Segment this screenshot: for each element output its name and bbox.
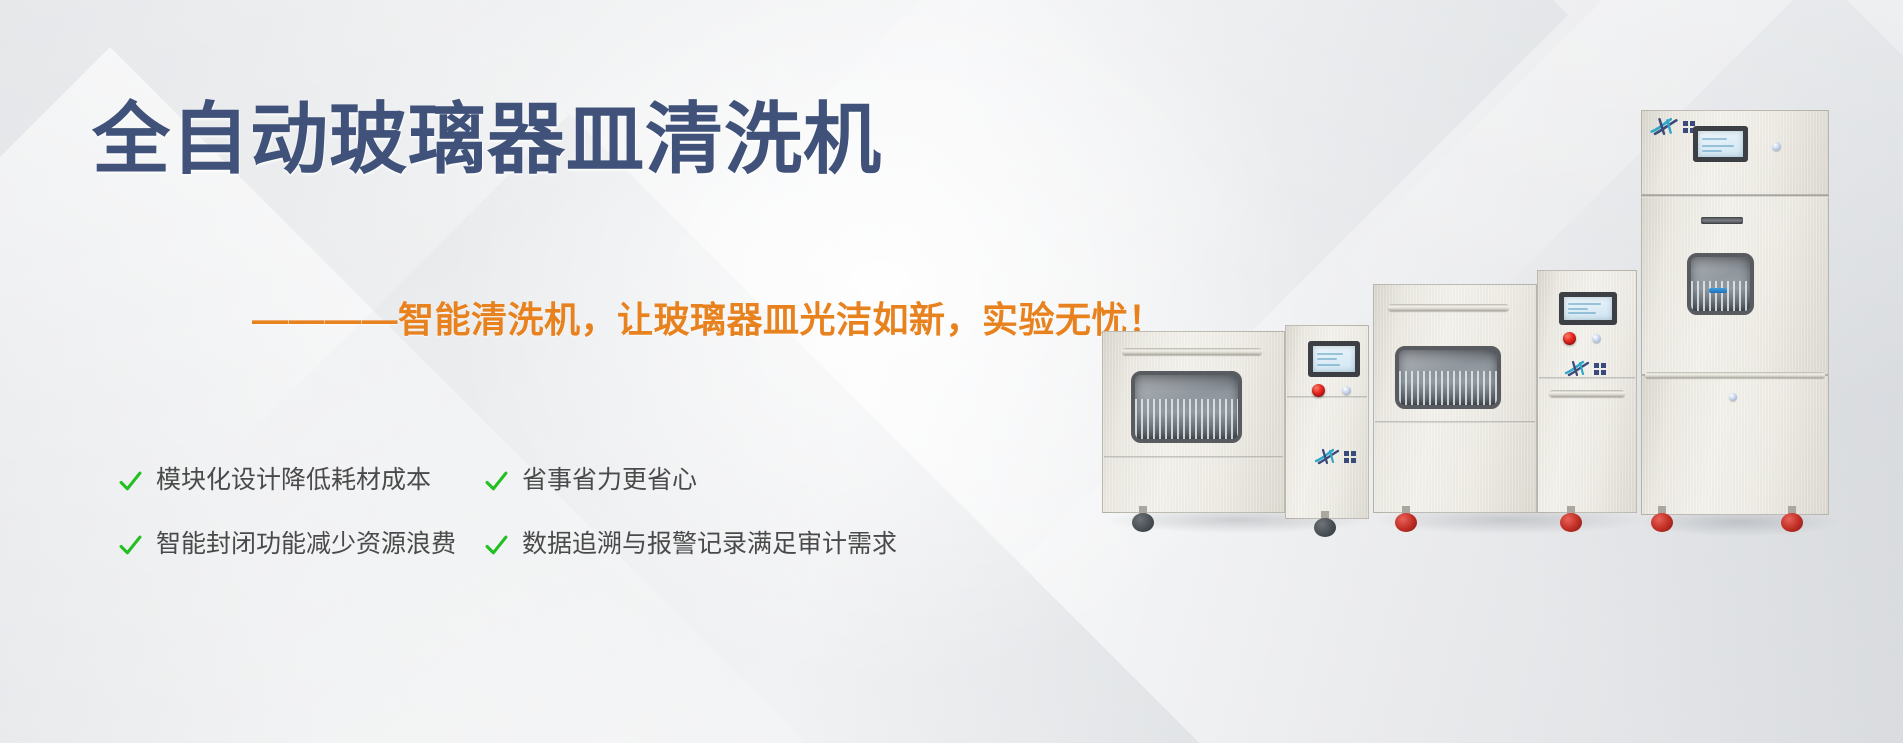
door-handle: [1122, 348, 1262, 355]
screen-line: [1317, 353, 1343, 355]
screen-line: [1568, 303, 1601, 305]
blue-rack-detail: [1709, 288, 1727, 293]
panel-seam: [1375, 421, 1535, 424]
feature-item: 数据追溯与报警记录满足审计需求: [484, 532, 1048, 559]
glassware-load: [1399, 371, 1497, 405]
screen-line: [1568, 308, 1587, 310]
feature-row: 智能封闭功能减少资源浪费 数据追溯与报警记录满足审计需求: [118, 532, 1048, 559]
lower-door-handle: [1549, 390, 1625, 397]
check-icon: [484, 469, 509, 494]
caster-wheel: [1560, 506, 1582, 532]
feature-list: 模块化设计降低耗材成本 省事省力更省心 智能封闭功能减少资源浪费: [118, 468, 1048, 559]
touchscreen-display[interactable]: [1308, 341, 1360, 377]
feature-item: 智能封闭功能减少资源浪费: [118, 532, 484, 559]
logo-mark-icon: [1564, 360, 1590, 377]
panel-seam: [1104, 456, 1283, 459]
screen-line: [1702, 145, 1734, 147]
chamber-viewing-window: [1395, 346, 1501, 409]
logo-mark-icon: [1649, 117, 1679, 136]
product-image-group: [1083, 0, 1903, 743]
check-icon: [118, 533, 143, 558]
vent-slot: [1701, 217, 1743, 224]
touchscreen-display[interactable]: [1693, 126, 1748, 162]
feature-label: 省事省力更省心: [522, 468, 697, 495]
feature-label: 数据追溯与报警记录满足审计需求: [522, 532, 897, 559]
panel-seam: [1287, 396, 1367, 399]
caster-wheel: [1314, 511, 1336, 537]
screen-line: [1568, 312, 1596, 314]
screen-line: [1317, 358, 1337, 360]
screen-line: [1702, 138, 1727, 140]
caster-wheel: [1781, 506, 1803, 532]
glassware-load: [1691, 281, 1750, 311]
screen-line: [1317, 364, 1341, 366]
product-washer-middle: [1373, 270, 1643, 525]
feature-label: 模块化设计降低耗材成本: [156, 468, 431, 495]
indicator-lamp[interactable]: [1342, 386, 1351, 395]
logo-mark-icon: [1314, 448, 1340, 465]
glassware-load: [1135, 399, 1238, 439]
indicator-lamp[interactable]: [1772, 142, 1781, 151]
chamber-viewing-window: [1131, 371, 1242, 443]
caster-wheel: [1132, 506, 1154, 532]
banner-subheadline: ————智能清洗机，让玻璃器皿光洁如新，实验无忧！: [252, 291, 1165, 343]
feature-item: 省事省力更省心: [484, 468, 1048, 495]
brand-logo: [1314, 448, 1356, 465]
door-latch-icon: [1729, 393, 1737, 401]
logo-text-blocks: [1594, 363, 1606, 375]
caster-wheel: [1395, 506, 1417, 532]
product-washer-left: [1102, 325, 1372, 525]
logo-text-blocks: [1344, 451, 1356, 463]
touchscreen-display[interactable]: [1559, 292, 1617, 325]
product-hero-banner: 全自动玻璃器皿清洗机 ————智能清洗机，让玻璃器皿光洁如新，实验无忧！ 模块化…: [0, 0, 1903, 743]
emergency-stop-button[interactable]: [1312, 384, 1325, 397]
panel-seam: [1539, 377, 1635, 380]
product-washer-right: [1641, 110, 1841, 525]
chamber-viewing-window: [1687, 253, 1754, 315]
check-icon: [118, 469, 143, 494]
banner-headline: 全自动玻璃器皿清洗机: [92, 98, 882, 181]
banner-copy-block: 全自动玻璃器皿清洗机 ————智能清洗机，让玻璃器皿光洁如新，实验无忧！ 模块化…: [0, 0, 1100, 743]
feature-row: 模块化设计降低耗材成本 省事省力更省心: [118, 468, 1048, 495]
screen-line: [1702, 150, 1722, 152]
lower-door-handle: [1645, 372, 1825, 378]
feature-label: 智能封闭功能减少资源浪费: [156, 532, 456, 559]
check-icon: [484, 533, 509, 558]
indicator-lamp[interactable]: [1592, 334, 1601, 343]
brand-logo: [1649, 117, 1695, 136]
emergency-stop-button[interactable]: [1563, 332, 1576, 345]
door-handle: [1388, 304, 1509, 311]
caster-wheel: [1651, 506, 1673, 532]
panel-seam: [1641, 195, 1829, 198]
feature-item: 模块化设计降低耗材成本: [118, 468, 484, 495]
brand-logo: [1564, 360, 1606, 377]
